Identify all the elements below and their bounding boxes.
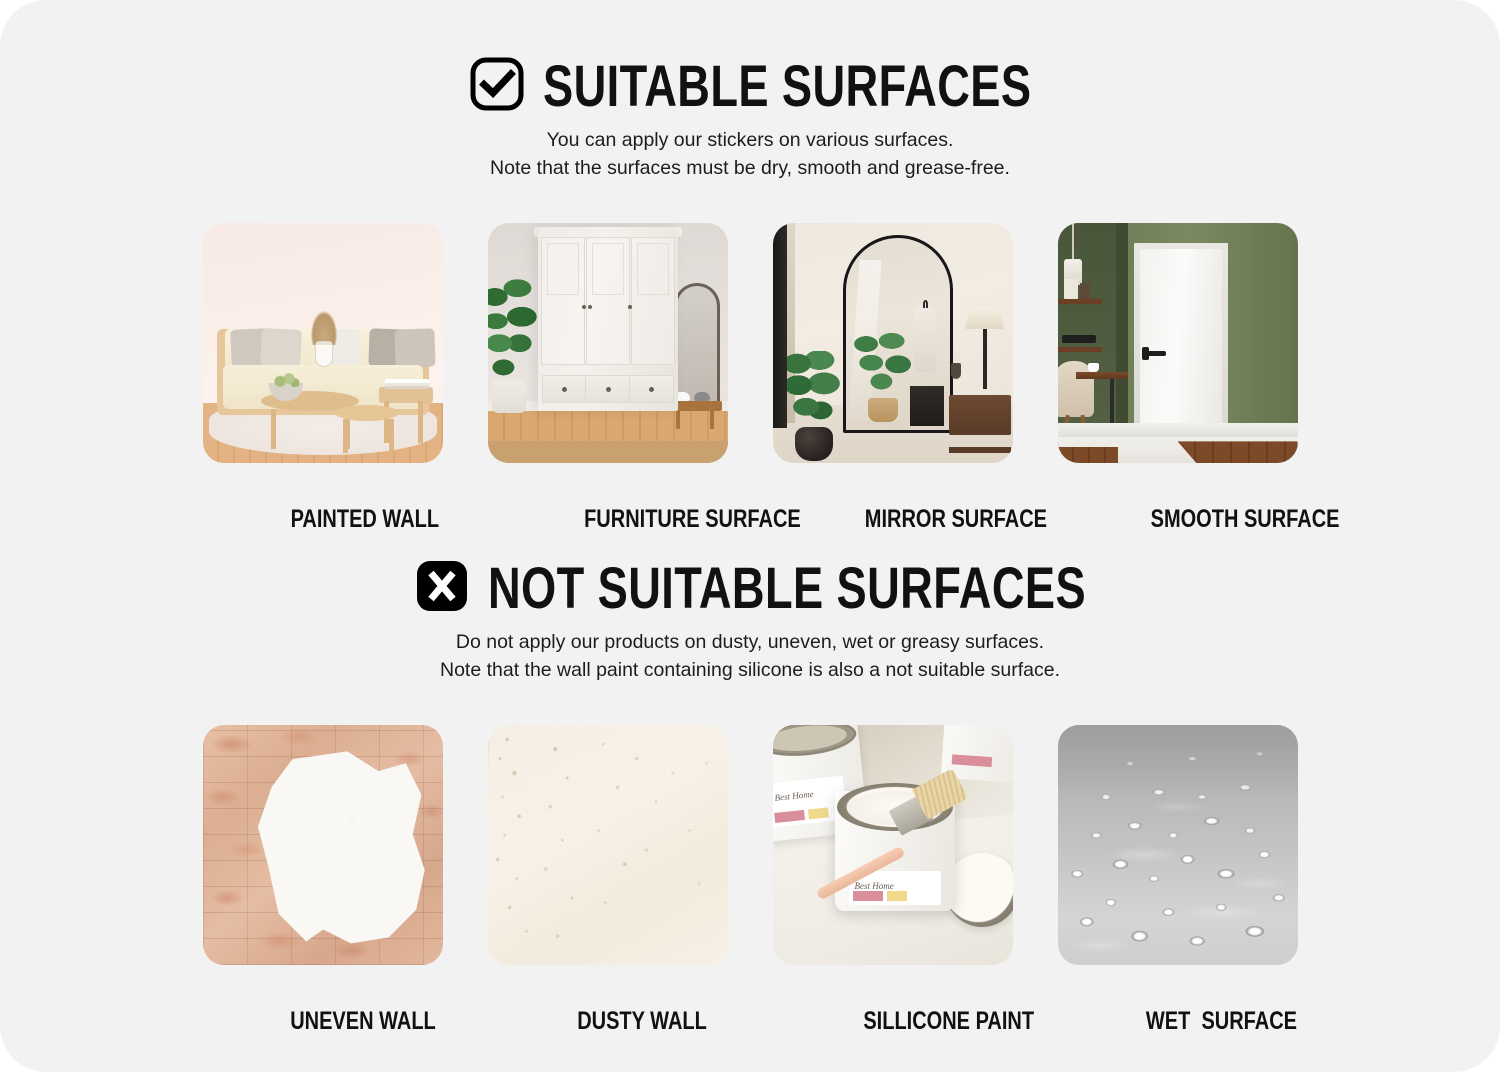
card-label-dusty-wall: DUSTY WALL — [488, 984, 728, 1059]
lamp-shade-decor — [965, 307, 1005, 329]
reflected-plant-decor — [852, 330, 916, 408]
wall-grain-decor — [488, 725, 728, 965]
object-decor — [1062, 335, 1096, 343]
label-text: SMOOTH SURFACE — [1151, 507, 1340, 532]
not-suitable-subtitle: Do not apply our products on dusty, unev… — [0, 629, 1500, 684]
label-stripe-decor — [853, 891, 883, 901]
label-text: DUSTY WALL — [577, 1009, 707, 1034]
card-uneven-wall[interactable]: UNEVEN WALL — [203, 725, 443, 1059]
card-dusty-wall[interactable]: DUSTY WALL — [488, 725, 728, 1059]
depth-blur-decor — [1058, 725, 1298, 797]
card-furniture-surface[interactable]: FURNITURE SURFACE — [488, 223, 728, 557]
not-suitable-subtitle-line-1: Do not apply our products on dusty, unev… — [0, 629, 1500, 657]
label-stripe-decor — [774, 810, 805, 823]
lamp-post-decor — [983, 329, 987, 389]
drawer-decor — [586, 376, 630, 402]
reflected-robe-decor — [914, 306, 936, 372]
table-top-decor — [1076, 372, 1128, 379]
brand-text-decor: Best Home — [855, 881, 894, 891]
vase-decor — [315, 341, 333, 367]
checkbox-check-icon — [469, 56, 525, 117]
wardrobe-door-decor — [586, 237, 630, 365]
white-door-decor — [1140, 249, 1222, 441]
card-label-painted-wall: PAINTED WALL — [203, 482, 443, 557]
shelf-decor — [1058, 299, 1102, 304]
not-suitable-subtitle-line-2: Note that the wall paint containing sili… — [0, 657, 1500, 685]
label-text: UNEVEN WALL — [290, 1009, 436, 1034]
card-mirror-surface[interactable]: MIRROR SURFACE — [773, 223, 1013, 557]
wood-floor-decor — [1058, 447, 1118, 463]
thumb-wet-surface[interactable] — [1058, 725, 1298, 965]
book-decor — [1080, 283, 1090, 299]
reflected-hook-decor — [923, 300, 928, 308]
label-text: FURNITURE SURFACE — [584, 507, 801, 532]
card-label-smooth-surface: SMOOTH SURFACE — [1058, 482, 1298, 557]
card-label-uneven-wall: UNEVEN WALL — [203, 984, 443, 1059]
x-mark-filled-icon — [414, 558, 470, 619]
suitable-surfaces-grid: PAINTED WALL — [0, 223, 1500, 557]
dark-plant-pot-decor — [795, 427, 833, 461]
thumb-furniture-surface[interactable] — [488, 223, 728, 463]
cushion-decor — [394, 329, 435, 368]
label-stripe-decor — [807, 808, 828, 820]
table-leg-decor — [1110, 379, 1114, 429]
cushion-decor — [260, 328, 302, 368]
thumb-sillicone-paint[interactable]: Best Home Best Home — [773, 725, 1013, 965]
drawer-decor — [543, 376, 587, 402]
suitable-subtitle-line-1: You can apply our stickers on various su… — [0, 127, 1500, 155]
table-leg-decor — [271, 409, 276, 449]
console-table-decor — [949, 395, 1011, 435]
infographic-page: SUITABLE SURFACES You can apply our stic… — [0, 0, 1500, 1072]
console-shelf-decor — [949, 447, 1011, 453]
table-leg-decor — [343, 419, 348, 453]
table-leg-decor — [418, 401, 423, 443]
stool-leg-decor — [710, 407, 714, 429]
suitable-title: SUITABLE SURFACES — [543, 58, 1031, 116]
drawer-decor — [630, 376, 673, 402]
thumb-mirror-surface[interactable] — [773, 223, 1013, 463]
shelf-decor — [1058, 347, 1102, 352]
thumb-dusty-wall[interactable] — [488, 725, 728, 965]
dried-plant-decor — [311, 311, 337, 345]
surface-texture-decor — [203, 725, 443, 965]
not-suitable-surfaces-grid: UNEVEN WALL DUSTY WALL — [0, 725, 1500, 1059]
table-leg-decor — [389, 419, 394, 453]
arched-mirror-decor — [674, 283, 720, 407]
shoe-decor — [694, 392, 710, 401]
suitable-subtitle: You can apply our stickers on various su… — [0, 127, 1500, 182]
card-label-mirror-surface: MIRROR SURFACE — [773, 482, 1013, 557]
pendant-cord-decor — [1072, 223, 1074, 259]
suitable-subtitle-line-2: Note that the surfaces must be dry, smoo… — [0, 155, 1500, 183]
wardrobe-decor — [538, 227, 678, 411]
suitable-section-header: SUITABLE SURFACES — [0, 56, 1500, 117]
books-decor — [385, 379, 429, 389]
thumb-painted-wall[interactable] — [203, 223, 443, 463]
brand-text-decor: Best Home — [774, 789, 814, 803]
drawer-row-decor — [542, 375, 674, 403]
label-text: PAINTED WALL — [291, 507, 440, 532]
label-stripe-decor — [887, 891, 907, 901]
can-rim-decor — [773, 725, 858, 760]
book-decor — [1064, 279, 1078, 299]
card-wet-surface[interactable]: WET SURFACE — [1058, 725, 1298, 1059]
wood-floor-decor — [1178, 441, 1298, 463]
rug-decor — [488, 441, 728, 463]
knob-decor — [582, 305, 586, 309]
suitable-title-wrap: SUITABLE SURFACES — [543, 58, 1031, 116]
plant-pot-decor — [492, 381, 526, 413]
wardrobe-door-decor — [541, 237, 585, 365]
arched-mirror-decor — [843, 235, 953, 433]
card-painted-wall[interactable]: PAINTED WALL — [203, 223, 443, 557]
door-handle-decor — [1144, 351, 1166, 356]
label-text: MIRROR SURFACE — [865, 507, 1047, 532]
section-not-suitable-surfaces: NOT SUITABLE SURFACES Do not apply our p… — [0, 558, 1500, 1059]
label-stripe-decor — [951, 755, 992, 768]
not-suitable-section-header: NOT SUITABLE SURFACES — [0, 558, 1500, 619]
knob-decor — [588, 305, 592, 309]
knob-decor — [628, 305, 632, 309]
card-sillicone-paint[interactable]: Best Home Best Home — [773, 725, 1013, 1059]
window-frame-decor — [773, 223, 787, 428]
not-suitable-title: NOT SUITABLE SURFACES — [488, 560, 1086, 618]
card-label-sillicone-paint: SILLICONE PAINT — [773, 984, 1013, 1059]
vase-decor — [951, 363, 961, 379]
plant-leaves-decor — [488, 275, 538, 385]
wardrobe-door-decor — [631, 237, 675, 365]
card-smooth-surface[interactable]: SMOOTH SURFACE — [1058, 223, 1298, 557]
label-text: SILLICONE PAINT — [863, 1009, 1034, 1034]
section-suitable-surfaces: SUITABLE SURFACES You can apply our stic… — [0, 56, 1500, 557]
card-label-wet-surface: WET SURFACE — [1058, 984, 1298, 1059]
thumb-smooth-surface[interactable] — [1058, 223, 1298, 463]
card-label-furniture-surface: FURNITURE SURFACE — [488, 482, 728, 557]
thumb-uneven-wall[interactable] — [203, 725, 443, 965]
label-text: WET SURFACE — [1146, 1009, 1297, 1034]
skirting-board-decor — [1058, 423, 1298, 437]
cup-decor — [1088, 363, 1099, 372]
not-suitable-title-wrap: NOT SUITABLE SURFACES — [488, 560, 1086, 618]
reflected-pot-decor — [868, 398, 898, 422]
reflected-cabinet-decor — [910, 386, 944, 426]
